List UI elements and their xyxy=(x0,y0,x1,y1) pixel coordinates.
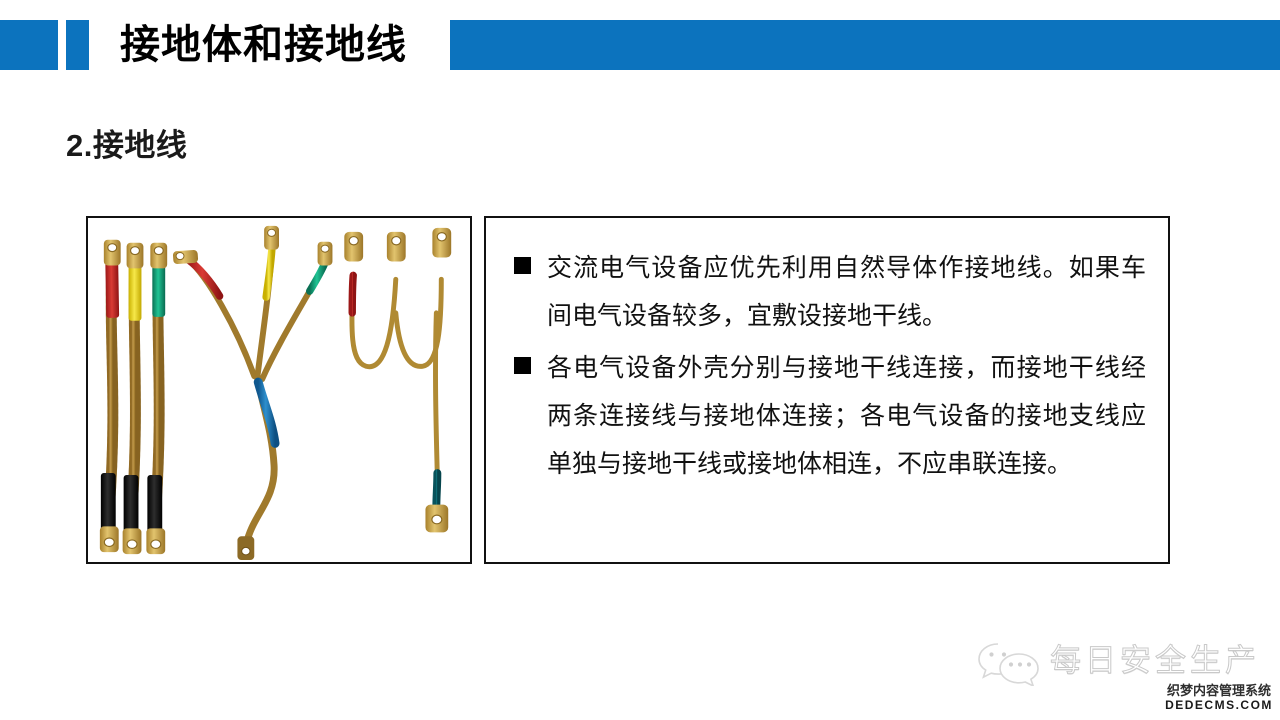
bullet-text-1: 交流电气设备应优先利用自然导体作接地线。如果车间电气设备较多，宜敷设接地干线。 xyxy=(547,244,1146,340)
watermark-brand: 每日安全生产 xyxy=(1050,636,1260,686)
photo-panel xyxy=(86,216,472,564)
page-title: 接地体和接地线 xyxy=(120,14,407,76)
square-bullet-icon xyxy=(514,357,531,374)
watermark: 每日安全生产 织梦内容管理系统 DEDECMS.COM xyxy=(968,636,1280,720)
text-panel: 交流电气设备应优先利用自然导体作接地线。如果车间电气设备较多，宜敷设接地干线。 … xyxy=(484,216,1170,564)
header-bar-accent xyxy=(66,20,89,70)
section-subtitle: 2.接地线 xyxy=(66,120,187,165)
bullet-item-1: 交流电气设备应优先利用自然导体作接地线。如果车间电气设备较多，宜敷设接地干线。 xyxy=(514,244,1146,340)
header-bar-right xyxy=(450,20,1280,70)
square-bullet-icon xyxy=(514,257,531,274)
grounding-wire-photo xyxy=(88,218,470,562)
watermark-cms: 织梦内容管理系统 DEDECMS.COM xyxy=(1158,683,1280,712)
watermark-cms-cn: 织梦内容管理系统 xyxy=(1158,683,1280,698)
header-bar-left xyxy=(0,20,58,70)
bullet-item-2: 各电气设备外壳分别与接地干线连接，而接地干线经两条连接线与接地体连接；各电气设备… xyxy=(514,344,1146,488)
bullet-text-2: 各电气设备外壳分别与接地干线连接，而接地干线经两条连接线与接地体连接；各电气设备… xyxy=(547,344,1146,488)
wechat-icon xyxy=(976,640,1042,686)
watermark-cms-en: DEDECMS.COM xyxy=(1158,698,1280,712)
